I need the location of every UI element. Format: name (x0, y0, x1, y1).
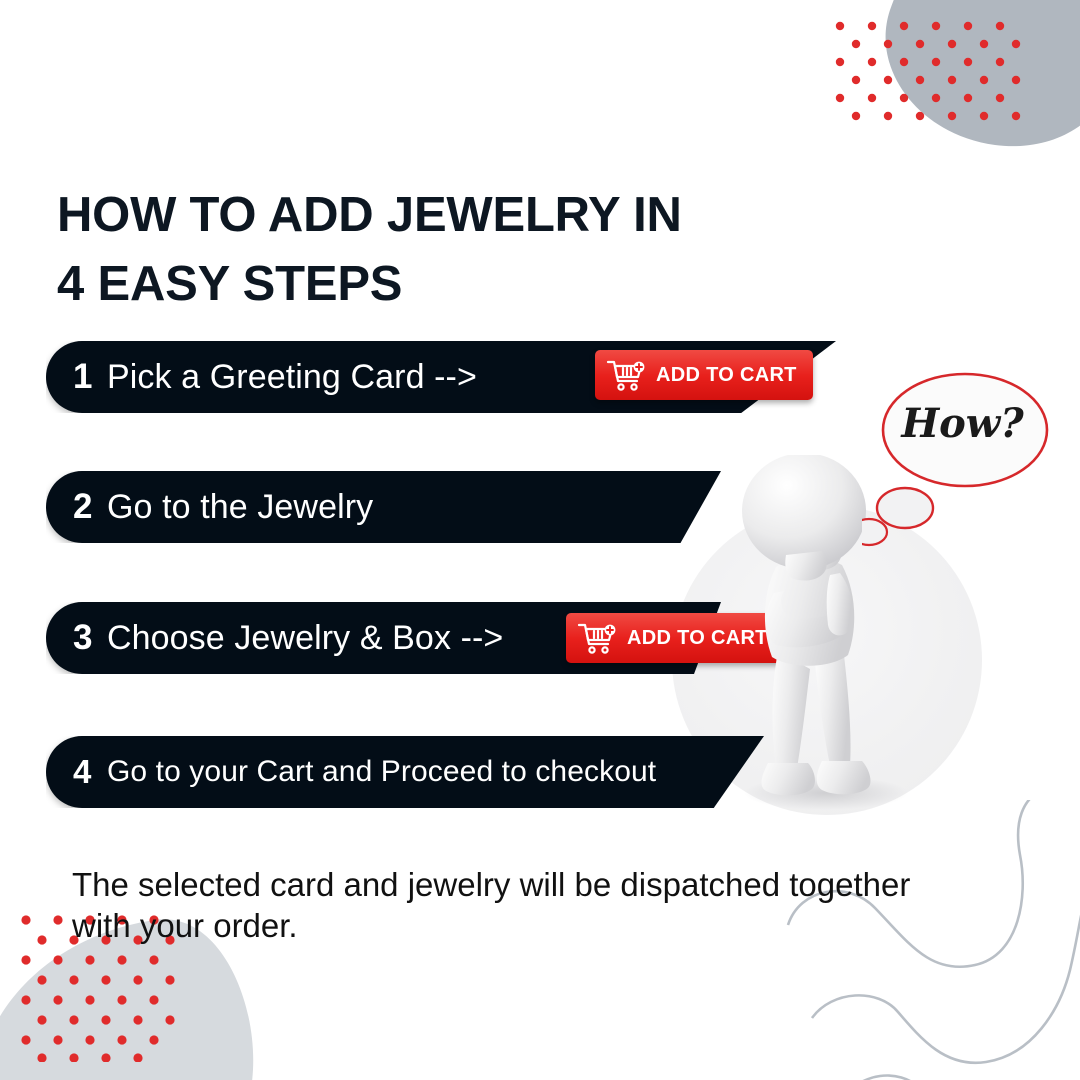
step-number: 4 (73, 753, 107, 791)
add-to-cart-label: ADD TO CART (656, 364, 797, 387)
step-row-4: 4 Go to your Cart and Proceed to checkou… (46, 736, 764, 808)
step-number: 3 (73, 618, 107, 658)
add-to-cart-button-step1[interactable]: ADD TO CART (595, 350, 813, 400)
cart-plus-icon (606, 358, 648, 392)
step-label: Choose Jewelry & Box --> (107, 619, 503, 658)
cart-plus-icon (577, 621, 619, 655)
thought-bubble (862, 368, 1062, 548)
red-dot-grid-top-right (832, 18, 1032, 133)
step-number: 1 (73, 357, 107, 397)
step-label: Pick a Greeting Card --> (107, 358, 477, 397)
page-title: HOW TO ADD JEWELRY IN 4 EASY STEPS (57, 181, 887, 320)
step-label: Go to the Jewelry (107, 488, 373, 527)
footer-note: The selected card and jewelry will be di… (72, 865, 977, 947)
step-number: 2 (73, 487, 107, 527)
infographic-canvas: HOW TO ADD JEWELRY IN 4 EASY STEPS 1 Pic… (0, 0, 1080, 1080)
gray-blob-top-right (800, 0, 1080, 170)
step-row-2: 2 Go to the Jewelry (46, 471, 721, 543)
thought-bubble-text: How? (895, 400, 1030, 447)
step-label: Go to your Cart and Proceed to checkout (107, 755, 656, 789)
